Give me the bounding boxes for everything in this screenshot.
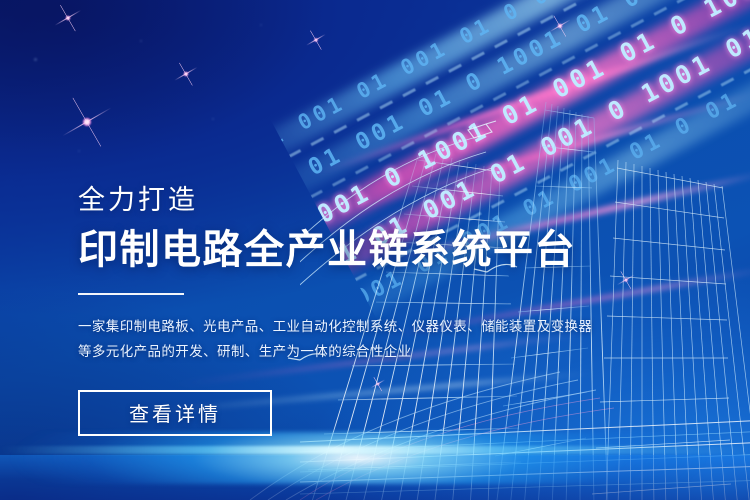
dust-particle-2 — [140, 40, 142, 42]
horizon-core-beam — [0, 446, 750, 454]
dust-particle-1 — [34, 58, 37, 61]
dust-particle-4 — [78, 150, 80, 152]
hero-content: 全力打造 印制电路全产业链系统平台 一家集印制电路板、光电产品、工业自动化控制系… — [78, 186, 598, 436]
dust-particle-5 — [260, 24, 262, 26]
title-divider — [78, 293, 184, 295]
description-text: 一家集印制电路板、光电产品、工业自动化控制系统、仪器仪表、储能装置及变换器 等多… — [78, 314, 598, 364]
horizon-glow — [0, 432, 750, 484]
view-details-button[interactable]: 查看详情 — [78, 390, 272, 436]
description-line-1: 一家集印制电路板、光电产品、工业自动化控制系统、仪器仪表、储能装置及变换器 — [78, 314, 598, 339]
description-line-2: 等多元化产品的开发、研制、生产为一体的综合性企业 — [78, 339, 598, 364]
page-title: 印制电路全产业链系统平台 — [78, 227, 598, 274]
eyebrow-text: 全力打造 — [78, 186, 598, 216]
hero-banner: 1 01 001 01 001 01 0 001 01 001 0 1001 0… — [0, 0, 750, 500]
dust-particle-3 — [212, 118, 214, 120]
